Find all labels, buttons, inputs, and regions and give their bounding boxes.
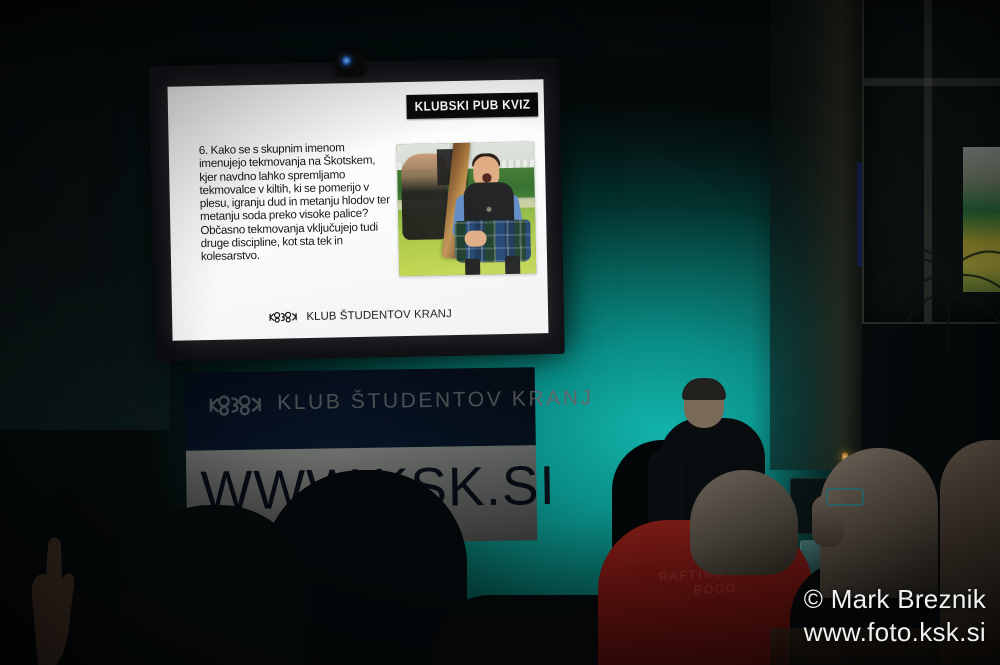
audience-silhouette-mid	[120, 505, 310, 665]
webcam-led	[342, 56, 351, 65]
slide-content: KLUBSKI PUB KVIZ 6. Kako se s skupnim im…	[167, 79, 548, 340]
photo-scene: KLUBSKI PUB KVIZ 6. Kako se s skupnim im…	[0, 0, 1000, 665]
audience-grey-hair-head	[690, 470, 798, 575]
presentation-screen: KLUBSKI PUB KVIZ 6. Kako se s skupnim im…	[149, 58, 565, 362]
slide-photo	[397, 141, 537, 276]
quiz-question-text: 6. Kako se s skupnim imenom imenujejo te…	[199, 140, 391, 263]
slide-footer: KLUB ŠTUDENTOV KRANJ	[172, 304, 548, 327]
window-mullion-horizontal	[864, 78, 1000, 86]
slide-footer-label: KLUB ŠTUDENTOV KRANJ	[306, 308, 452, 323]
window-blue-light	[857, 162, 862, 267]
raised-hand-icon	[22, 505, 80, 665]
ksk-logo-icon	[268, 309, 300, 325]
watermark-author: © Mark Breznik	[804, 583, 986, 616]
photo-athlete-leg-right	[505, 256, 520, 276]
palm-plant-icon	[878, 150, 1000, 350]
photo-athlete-hands	[464, 230, 486, 246]
watermark-site: www.foto.ksk.si	[804, 616, 986, 649]
wall-pillar	[770, 0, 862, 470]
webcam-icon	[336, 50, 365, 77]
photo-shirt-logo	[476, 202, 502, 217]
photo-athlete-mouth	[482, 173, 491, 182]
photo-athlete-leg-left	[465, 259, 480, 277]
quiz-badge: KLUBSKI PUB KVIZ	[406, 92, 538, 119]
eyeglasses-icon	[826, 488, 864, 506]
watermark: © Mark Breznik www.foto.ksk.si	[804, 583, 986, 649]
